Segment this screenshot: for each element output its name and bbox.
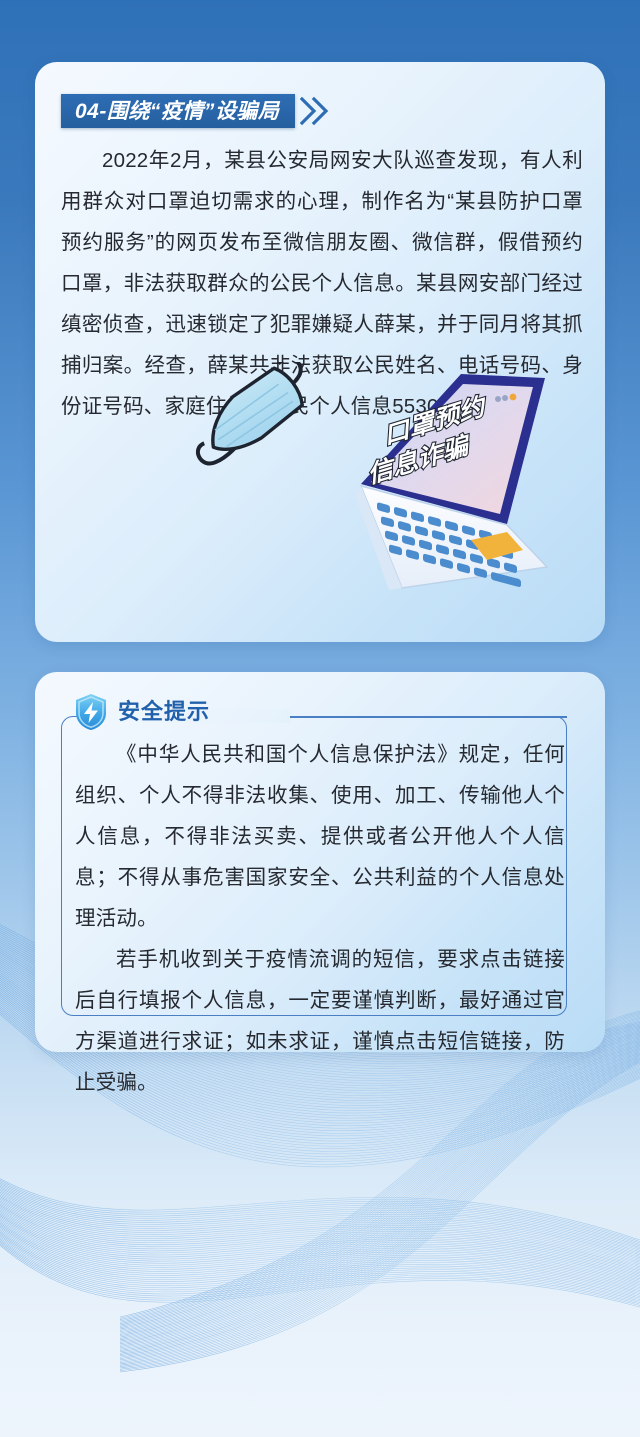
- surgical-mask-icon: [178, 362, 321, 470]
- case-banner: 04-围绕“疫情”设骗局: [61, 94, 330, 128]
- laptop-icon: 口罩预约 信息诈骗: [355, 374, 547, 590]
- case-banner-label: 04-围绕“疫情”设骗局: [61, 94, 295, 128]
- case-illustration: 口罩预约 信息诈骗: [155, 362, 555, 612]
- tips-paragraph-1: 《中华人民共和国个人信息保护法》规定，任何组织、个人不得非法收集、使用、加工、传…: [75, 734, 565, 939]
- browser-dots: [510, 394, 517, 401]
- tips-title-rule: [290, 716, 567, 718]
- tips-paragraph-2: 若手机收到关于疫情流调的短信，要求点击链接后自行填报个人信息，一定要谨慎判断，最…: [75, 939, 565, 1103]
- tips-title: 安全提示: [118, 701, 210, 723]
- shield-lightning-icon: [73, 692, 109, 732]
- case-card: 04-围绕“疫情”设骗局 2022年2月，某县公安局网安大队巡查发现，有人利用群…: [35, 62, 605, 642]
- double-chevron-right-icon: [300, 94, 330, 128]
- safety-tips-card: 安全提示 《中华人民共和国个人信息保护法》规定，任何组织、个人不得非法收集、使用…: [35, 672, 605, 1052]
- tips-header: 安全提示: [73, 692, 210, 732]
- tips-paragraphs: 《中华人民共和国个人信息保护法》规定，任何组织、个人不得非法收集、使用、加工、传…: [75, 734, 565, 1103]
